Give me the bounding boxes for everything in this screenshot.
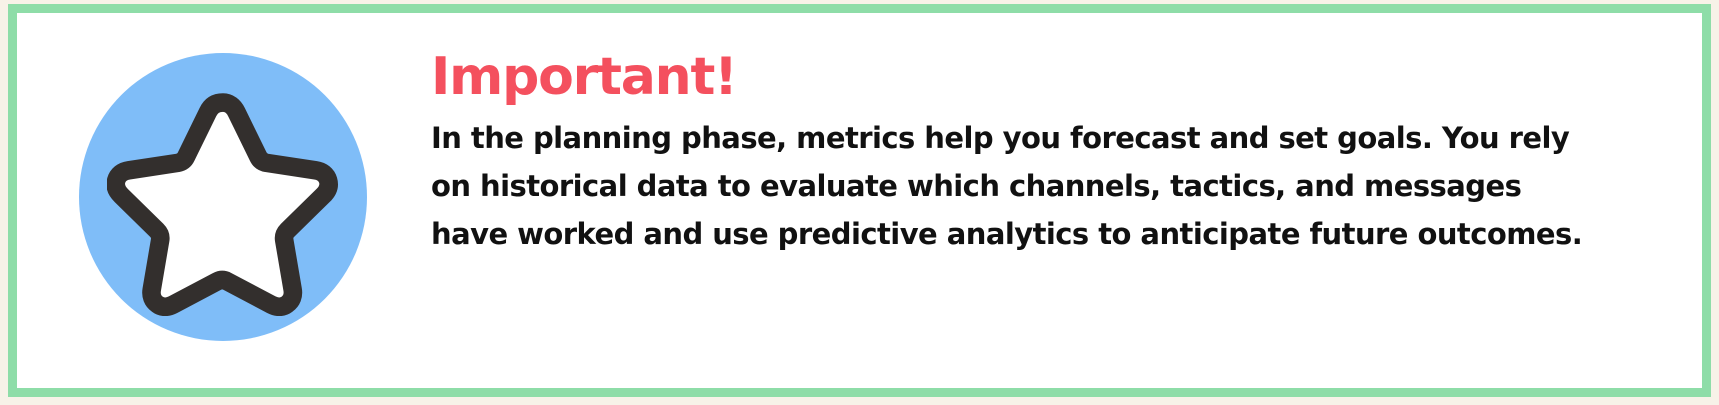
callout-text-area: Important! In the planning phase, metric… bbox=[431, 49, 1611, 258]
callout-icon-area bbox=[73, 17, 373, 377]
callout-heading: Important! bbox=[431, 49, 1611, 105]
callout-body-line: on historical data to evaluate which cha… bbox=[431, 162, 1611, 210]
callout-body-line: have worked and use predictive analytics… bbox=[431, 210, 1611, 258]
callout-body-line: In the planning phase, metrics help you … bbox=[431, 114, 1611, 162]
star-badge-circle bbox=[79, 53, 367, 341]
callout-body: In the planning phase, metrics help you … bbox=[431, 114, 1611, 258]
callout-card: Important! In the planning phase, metric… bbox=[8, 4, 1711, 397]
callout-card-inner: Important! In the planning phase, metric… bbox=[17, 13, 1702, 388]
star-icon bbox=[107, 84, 339, 316]
